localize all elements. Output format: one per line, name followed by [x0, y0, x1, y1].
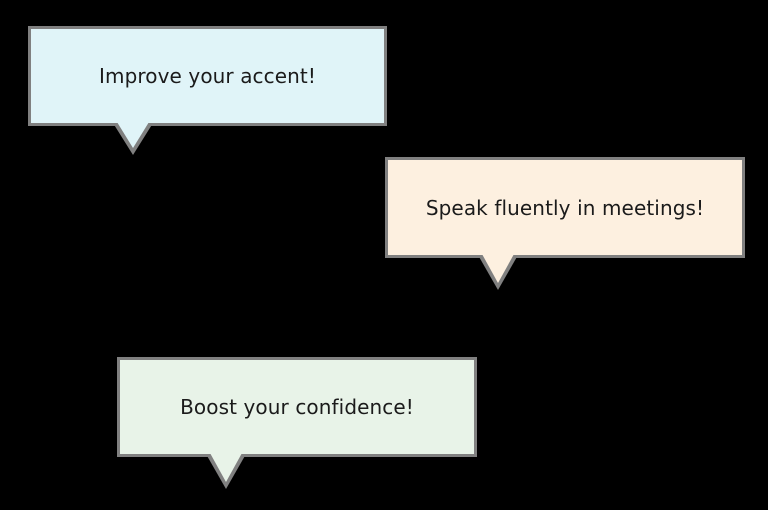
speech-bubble-tail — [478, 255, 518, 290]
speech-bubble-canvas: Improve your accent! Speak fluently in m… — [0, 0, 768, 510]
speech-bubble-boost-confidence[interactable]: Boost your confidence! — [117, 357, 477, 457]
speech-bubble-text: Boost your confidence! — [180, 395, 414, 419]
speech-bubble-speak-fluently[interactable]: Speak fluently in meetings! — [385, 157, 745, 258]
speech-bubble-text: Improve your accent! — [99, 64, 316, 88]
speech-bubble-text: Speak fluently in meetings! — [426, 196, 704, 220]
speech-bubble-improve-accent[interactable]: Improve your accent! — [28, 26, 387, 126]
speech-bubble-tail — [206, 454, 246, 489]
speech-bubble-tail — [113, 123, 153, 155]
